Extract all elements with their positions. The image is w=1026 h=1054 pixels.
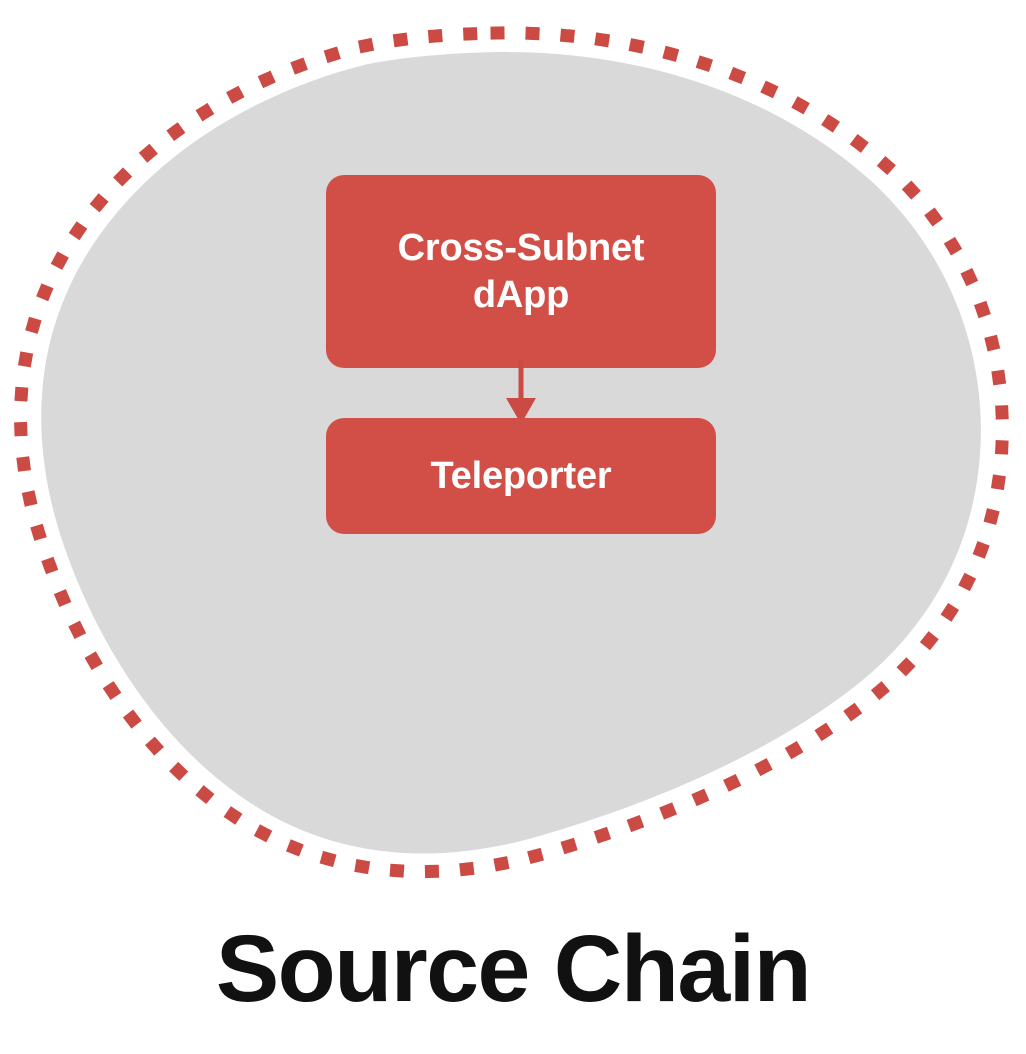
node-cross-subnet-dapp-label: Cross-Subnet dApp	[398, 225, 645, 318]
arrow-dapp-to-teleporter	[488, 360, 554, 426]
node-cross-subnet-dapp[interactable]: Cross-Subnet dApp	[326, 175, 716, 368]
diagram-title: Source Chain	[0, 920, 1026, 1020]
diagram-canvas: Cross-Subnet dApp Teleporter Source Chai…	[0, 0, 1026, 1054]
node-teleporter-label: Teleporter	[430, 453, 611, 499]
node-teleporter[interactable]: Teleporter	[326, 418, 716, 534]
